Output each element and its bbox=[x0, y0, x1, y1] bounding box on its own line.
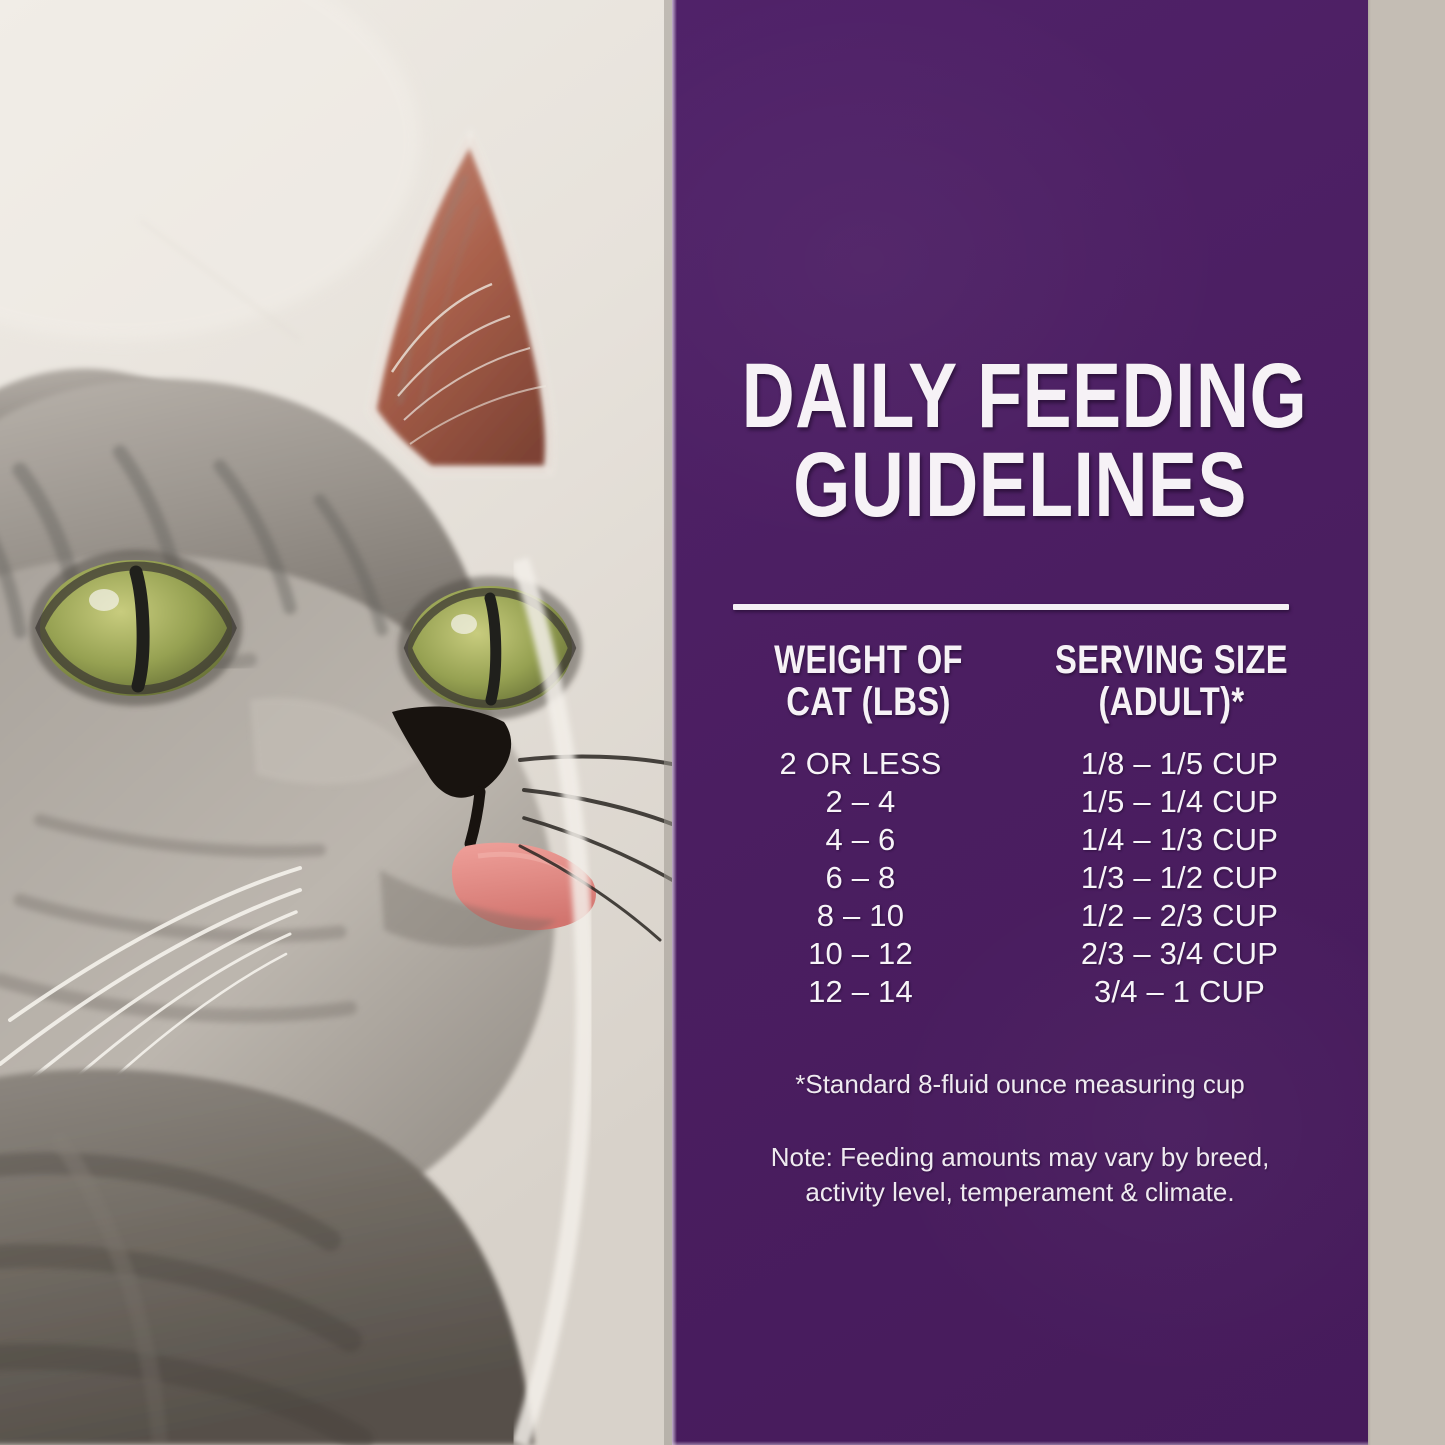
cell-serving: 1/8 – 1/5 CUP bbox=[1030, 745, 1323, 783]
cell-weight: 10 – 12 bbox=[717, 935, 1030, 973]
feeding-note-line-1: Note: Feeding amounts may vary by breed, bbox=[730, 1140, 1310, 1175]
page-title-line-2: GUIDELINES bbox=[742, 441, 1299, 530]
column-header-serving: SERVING SIZE (ADULT)* bbox=[1047, 640, 1295, 723]
cell-serving: 1/3 – 1/2 CUP bbox=[1030, 859, 1323, 897]
feeding-table-body: 2 OR LESS 1/8 – 1/5 CUP 2 – 4 1/5 – 1/4 … bbox=[717, 745, 1323, 1011]
cat-photo-illustration bbox=[0, 0, 672, 1445]
table-row: 8 – 10 1/2 – 2/3 CUP bbox=[717, 897, 1323, 935]
feeding-note: Note: Feeding amounts may vary by breed,… bbox=[730, 1140, 1310, 1210]
page-right-edge-strip bbox=[1368, 0, 1445, 1445]
page-title: DAILY FEEDING GUIDELINES bbox=[672, 352, 1368, 530]
table-row: 4 – 6 1/4 – 1/3 CUP bbox=[717, 821, 1323, 859]
column-header-weight-line-2: CAT (LBS) bbox=[744, 682, 992, 724]
title-divider-rule bbox=[733, 604, 1289, 610]
cell-weight: 8 – 10 bbox=[717, 897, 1030, 935]
page-title-line-1: DAILY FEEDING bbox=[742, 352, 1299, 441]
feeding-guidelines-panel: DAILY FEEDING GUIDELINES WEIGHT OF CAT (… bbox=[672, 0, 1368, 1445]
cell-weight: 2 – 4 bbox=[717, 783, 1030, 821]
cell-serving: 2/3 – 3/4 CUP bbox=[1030, 935, 1323, 973]
feeding-guidelines-page: DAILY FEEDING GUIDELINES WEIGHT OF CAT (… bbox=[0, 0, 1445, 1445]
cat-left-eye bbox=[30, 550, 242, 706]
feeding-note-line-2: activity level, temperament & climate. bbox=[730, 1175, 1310, 1210]
cell-weight: 6 – 8 bbox=[717, 859, 1030, 897]
cell-serving: 3/4 – 1 CUP bbox=[1030, 973, 1323, 1011]
table-row: 6 – 8 1/3 – 1/2 CUP bbox=[717, 859, 1323, 897]
cell-serving: 1/2 – 2/3 CUP bbox=[1030, 897, 1323, 935]
cell-weight: 2 OR LESS bbox=[717, 745, 1030, 783]
feeding-table: WEIGHT OF CAT (LBS) SERVING SIZE (ADULT)… bbox=[717, 640, 1323, 1011]
measuring-cup-footnote: *Standard 8-fluid ounce measuring cup bbox=[672, 1068, 1368, 1101]
column-header-weight-line-1: WEIGHT OF bbox=[744, 640, 992, 682]
cat-photo bbox=[0, 0, 672, 1445]
cell-weight: 4 – 6 bbox=[717, 821, 1030, 859]
column-header-serving-line-2: (ADULT)* bbox=[1047, 682, 1295, 724]
cell-weight: 12 – 14 bbox=[717, 973, 1030, 1011]
table-row: 2 OR LESS 1/8 – 1/5 CUP bbox=[717, 745, 1323, 783]
column-header-serving-line-1: SERVING SIZE bbox=[1047, 640, 1295, 682]
table-row: 2 – 4 1/5 – 1/4 CUP bbox=[717, 783, 1323, 821]
cell-serving: 1/4 – 1/3 CUP bbox=[1030, 821, 1323, 859]
table-row: 10 – 12 2/3 – 3/4 CUP bbox=[717, 935, 1323, 973]
column-header-weight: WEIGHT OF CAT (LBS) bbox=[744, 640, 992, 723]
cell-serving: 1/5 – 1/4 CUP bbox=[1030, 783, 1323, 821]
table-row: 12 – 14 3/4 – 1 CUP bbox=[717, 973, 1323, 1011]
feeding-table-header-row: WEIGHT OF CAT (LBS) SERVING SIZE (ADULT)… bbox=[717, 640, 1323, 723]
